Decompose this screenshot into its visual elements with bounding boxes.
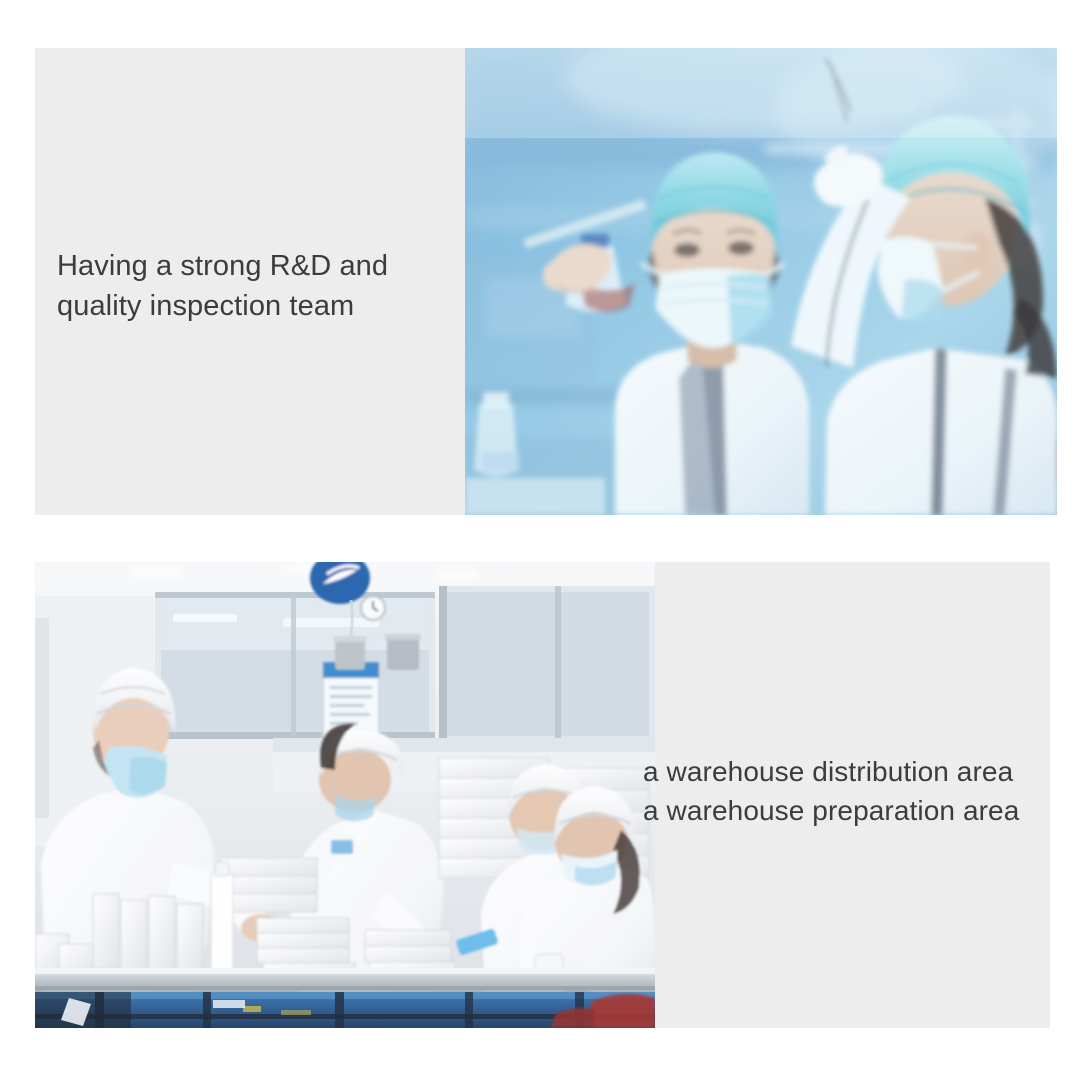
section-rnd-quality: Having a strong R&D and quality inspecti… <box>35 48 1057 516</box>
warehouse-packing-photo <box>35 562 655 1028</box>
caption-rnd-quality: Having a strong R&D and quality inspecti… <box>57 246 457 326</box>
caption-warehouse: a warehouse distribution area a warehous… <box>643 752 1043 830</box>
section-warehouse: a warehouse distribution area a warehous… <box>35 562 1050 1028</box>
collage-stage: Having a strong R&D and quality inspecti… <box>0 0 1080 1080</box>
lab-quality-inspection-photo <box>465 48 1057 515</box>
